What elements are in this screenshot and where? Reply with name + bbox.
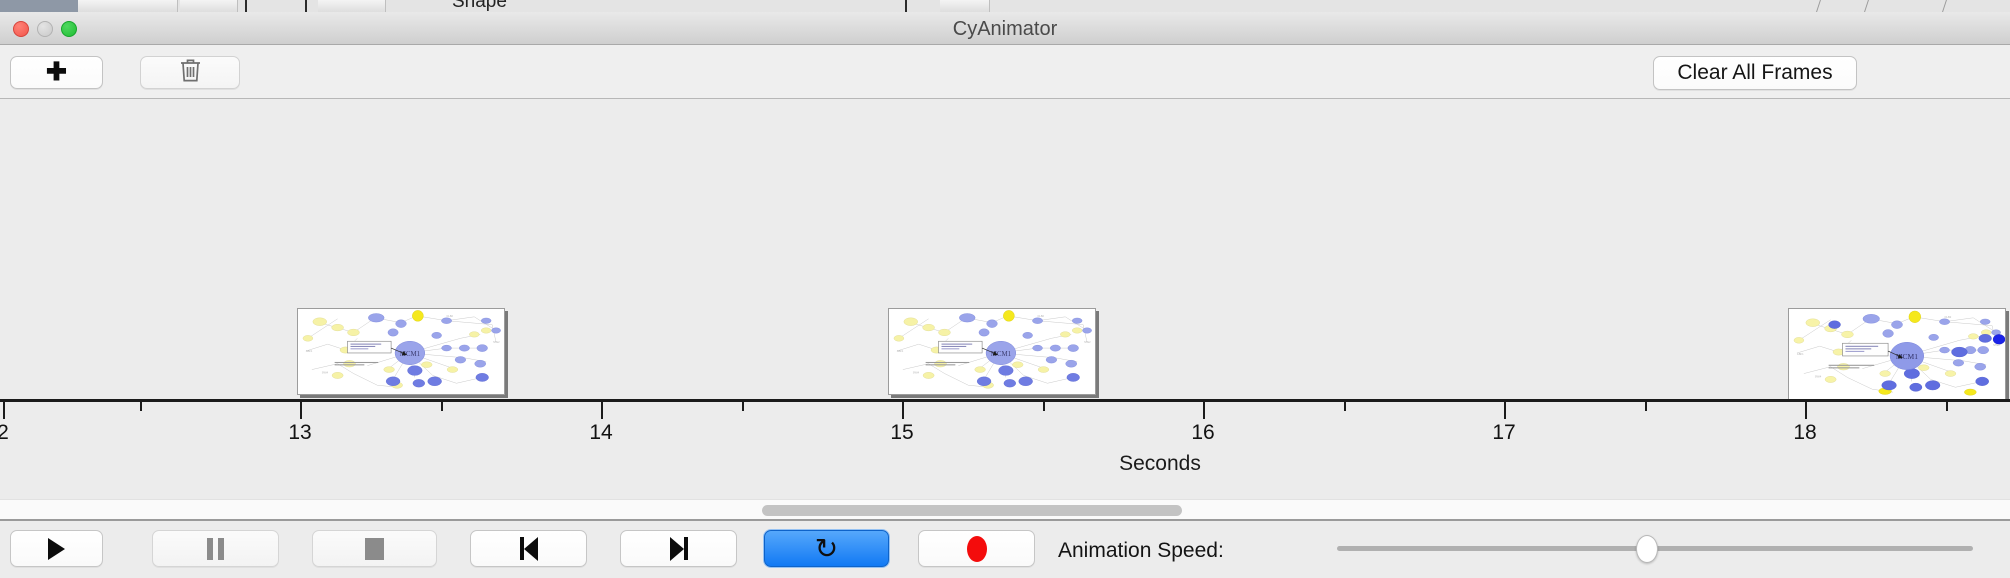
background-pane-2	[180, 0, 238, 12]
pause-button[interactable]	[152, 530, 279, 567]
background-window-strip: Shape	[0, 0, 2010, 12]
svg-text:STE2: STE2	[493, 340, 500, 344]
axis-minor-tick	[742, 402, 744, 411]
cyanimator-window: CyAnimator ✚ Clear All Frames	[0, 12, 2010, 510]
pause-icon	[207, 538, 224, 560]
timeline-frame-3[interactable]: MCM1 ABF1SWI4 CLB2STE2	[1788, 308, 2006, 399]
skip-backward-icon	[520, 537, 538, 561]
play-button[interactable]	[10, 530, 103, 567]
axis-minor-tick	[1946, 402, 1948, 411]
axis-tick-label: 13	[288, 421, 311, 445]
axis-minor-tick	[1344, 402, 1346, 411]
svg-text:CLB2: CLB2	[447, 314, 454, 318]
network-thumbnail-2: MCM1 ABF1SWI4 CLB2STE2	[889, 309, 1095, 394]
frame-toolbar: ✚ Clear All Frames	[0, 45, 2010, 99]
timeline-scrollbar[interactable]	[0, 499, 2010, 521]
axis-tick-label: 16	[1191, 421, 1214, 445]
svg-text:CLB2: CLB2	[1945, 315, 1952, 319]
svg-text:SWI4: SWI4	[913, 371, 920, 375]
axis-major-tick	[1805, 402, 1807, 419]
timeline-frame-1[interactable]: MCM1 ABF1SWI4 CLB2STE2	[297, 308, 505, 395]
background-tick-1	[245, 0, 247, 12]
axis-title: Seconds	[330, 452, 1990, 476]
skip-to-end-button[interactable]	[620, 530, 737, 567]
skip-forward-icon	[670, 537, 688, 561]
axis-major-tick	[902, 402, 904, 419]
network-thumbnail-1: MCM1 ABF1SWI4 CLB2STE2	[298, 309, 504, 394]
background-pane-3	[318, 0, 386, 12]
background-slash-1	[1816, 0, 1821, 12]
svg-text:ABF1: ABF1	[306, 349, 313, 353]
background-selected-box	[0, 0, 78, 12]
plus-icon: ✚	[46, 60, 67, 85]
timeline-axis: 2 13 14 15 16 17 18 Seconds	[0, 399, 2010, 499]
background-tick-3	[905, 0, 907, 12]
axis-minor-tick	[441, 402, 443, 411]
record-button[interactable]	[918, 530, 1035, 567]
window-titlebar[interactable]: CyAnimator	[0, 12, 2010, 45]
axis-tick-label: 14	[589, 421, 612, 445]
axis-tick-label: 15	[890, 421, 913, 445]
axis-tick-label: 17	[1492, 421, 1515, 445]
timeline-scrollbar-thumb[interactable]	[762, 505, 1182, 516]
axis-major-tick	[300, 402, 302, 419]
playback-controls: ↻ Animation Speed:	[0, 521, 2010, 578]
svg-text:STE2: STE2	[1084, 340, 1091, 344]
svg-text:STE2: STE2	[1993, 343, 2000, 347]
axis-major-tick	[1203, 402, 1205, 419]
timeline-frame-2[interactable]: MCM1 ABF1SWI4 CLB2STE2	[888, 308, 1096, 395]
animation-speed-label: Animation Speed:	[1058, 539, 1224, 563]
svg-text:SWI4: SWI4	[1815, 374, 1822, 378]
record-icon	[967, 536, 987, 562]
background-window-label: Shape	[452, 0, 507, 12]
background-tick-2	[305, 0, 307, 12]
axis-minor-tick	[1043, 402, 1045, 411]
axis-minor-tick	[140, 402, 142, 411]
loop-icon: ↻	[815, 535, 838, 563]
stop-icon	[365, 538, 384, 560]
clear-all-frames-button[interactable]: Clear All Frames	[1653, 56, 1857, 90]
animation-speed-slider-thumb[interactable]	[1636, 535, 1658, 563]
trash-icon	[179, 57, 202, 88]
svg-text:CLB2: CLB2	[1038, 314, 1045, 318]
axis-tick-label: 18	[1793, 421, 1816, 445]
timeline-track[interactable]: MCM1 ABF1SWI4 CLB2STE2	[0, 99, 2010, 399]
skip-to-start-button[interactable]	[470, 530, 587, 567]
add-frame-button[interactable]: ✚	[10, 56, 103, 89]
svg-text:ABF1: ABF1	[1797, 352, 1804, 356]
axis-major-tick	[1504, 402, 1506, 419]
background-pane-4	[940, 0, 990, 12]
axis-major-tick	[3, 402, 5, 419]
axis-tick-label: 2	[0, 421, 9, 445]
svg-text:SWI4: SWI4	[322, 371, 329, 375]
axis-major-tick	[601, 402, 603, 419]
axis-minor-tick	[1645, 402, 1647, 411]
background-slash-2	[1864, 0, 1869, 12]
background-slash-3	[1942, 0, 1947, 12]
window-title: CyAnimator	[0, 18, 2010, 41]
stop-button[interactable]	[312, 530, 437, 567]
clear-all-frames-label: Clear All Frames	[1677, 61, 1832, 85]
background-pane-1	[78, 0, 178, 12]
play-icon	[48, 538, 65, 560]
delete-frame-button[interactable]	[140, 56, 240, 89]
network-thumbnail-3: MCM1 ABF1SWI4 CLB2STE2	[1789, 309, 2005, 399]
loop-button[interactable]: ↻	[764, 530, 889, 567]
svg-text:ABF1: ABF1	[897, 349, 904, 353]
